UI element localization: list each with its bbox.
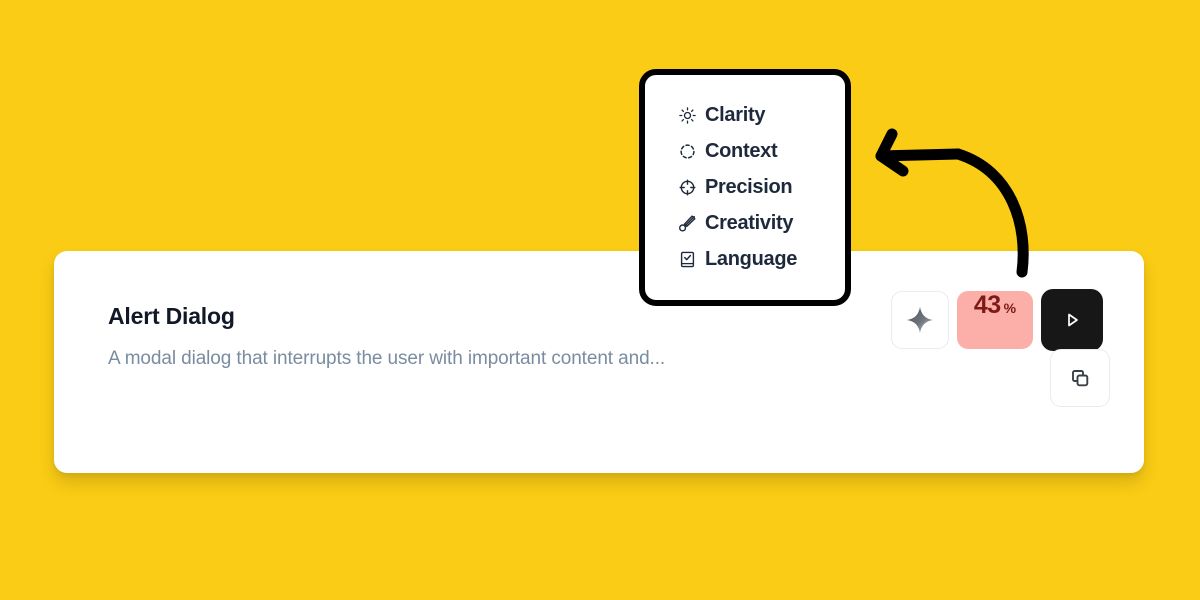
menu-item-label: Context: [705, 141, 777, 161]
component-card: Alert Dialog A modal dialog that interru…: [54, 251, 1144, 473]
dashed-circle-icon: [678, 142, 696, 160]
crosshair-icon: [678, 178, 696, 196]
sun-icon: [678, 106, 696, 124]
menu-item-language[interactable]: Language: [645, 241, 845, 277]
menu-item-label: Clarity: [705, 105, 765, 125]
menu-item-label: Creativity: [705, 213, 793, 233]
criteria-menu[interactable]: Clarity Context: [639, 69, 851, 306]
play-button[interactable]: [1041, 289, 1103, 351]
sparkle-icon: [905, 305, 935, 335]
badge-value: 43: [974, 291, 1001, 320]
menu-item-label: Precision: [705, 177, 792, 197]
copy-button-wrapper: [1050, 349, 1110, 407]
menu-item-clarity[interactable]: Clarity: [645, 97, 845, 133]
card-text-block: Alert Dialog A modal dialog that interru…: [108, 303, 868, 371]
status-badge[interactable]: 43 %: [957, 291, 1033, 349]
checkbox-square-icon: [678, 250, 696, 268]
menu-item-label: Language: [705, 249, 797, 269]
copy-button[interactable]: [1050, 349, 1110, 407]
paintbrush-icon: [678, 214, 696, 232]
menu-item-precision[interactable]: Precision: [645, 169, 845, 205]
card-actions-row: 43 %: [891, 289, 1103, 351]
card-description: A modal dialog that interrupts the user …: [108, 347, 868, 372]
menu-item-creativity[interactable]: Creativity: [645, 205, 845, 241]
badge-unit: %: [1004, 300, 1016, 316]
menu-item-context[interactable]: Context: [645, 133, 845, 169]
play-icon: [1061, 309, 1083, 331]
screenshot-stage: Alert Dialog A modal dialog that interru…: [0, 0, 1200, 600]
copy-icon: [1067, 365, 1093, 391]
page-title: Alert Dialog: [108, 303, 868, 331]
sparkle-button[interactable]: [891, 291, 949, 349]
